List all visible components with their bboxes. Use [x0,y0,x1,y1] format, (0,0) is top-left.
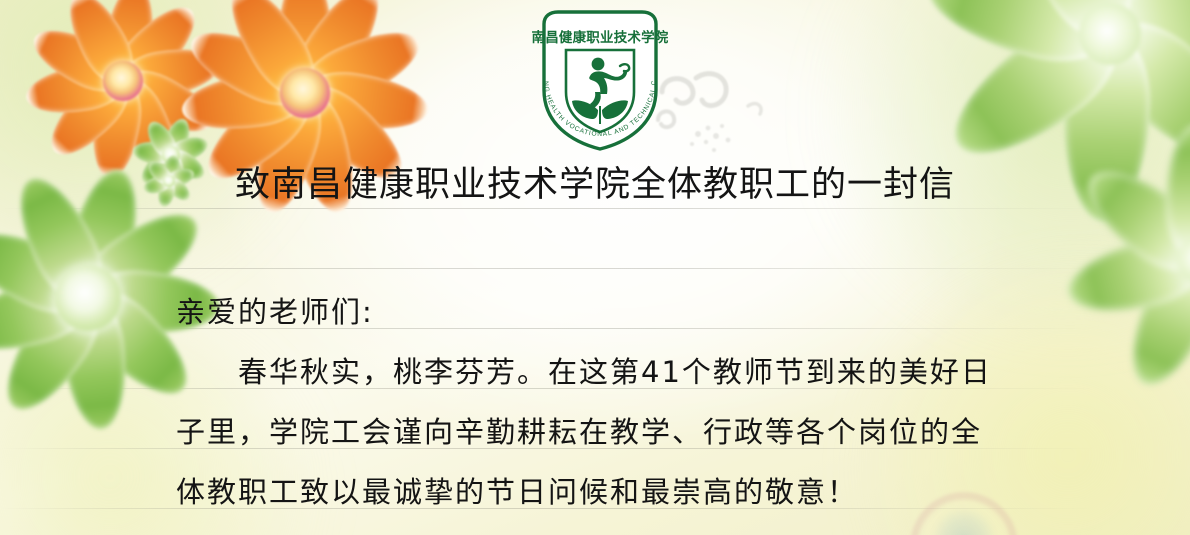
flower-petal [0,281,114,425]
flower-core [1079,3,1141,65]
flower-core [280,68,330,118]
flower-petal [1171,245,1190,396]
flower-petal [113,60,221,144]
college-emblem-logo: 南昌健康职业技术学院 NANCHANG HEALTH VOCATIONAL AN… [528,6,672,152]
paragraph-line-2: 子里，学院工会谨向辛勤耕耘在教学、行政等各个岗位的全 [176,402,1056,462]
flower-petal [282,0,394,108]
flower-petal [1102,0,1190,76]
background-bloom-top-left [0,0,340,300]
pale-green-flower-top-right [900,0,1190,244]
flower-petal [1060,228,1190,326]
letter-card: 南昌健康职业技术学院 NANCHANG HEALTH VOCATIONAL AN… [0,0,1190,535]
flower-petal [917,0,1121,76]
flower-petal [25,17,133,101]
flower-petal [178,66,308,137]
flower-petal [22,58,126,120]
letter-body: 亲爱的老师们: 春华秋实，桃李芬芳。在这第41个教师节到来的美好日 子里，学院工… [176,282,1056,522]
flower-petal [933,0,1135,180]
flower-petal [161,116,195,159]
flower-petal [119,41,223,103]
flower-petal [215,0,327,108]
flower-petal [57,0,144,92]
flower-petal [0,268,97,364]
flower-core [1177,237,1190,283]
ruled-line [0,268,1190,269]
flower-petal [38,65,139,167]
flower-petal [57,295,132,433]
flower-petal [181,17,316,118]
paragraph-line-1: 春华秋实，桃李芬芳。在这第41个教师节到来的美好日 [176,342,1056,402]
svg-text:南昌健康职业技术学院: 南昌健康职业技术学院 [532,29,669,46]
flower-core [55,265,121,331]
flower-petal [996,0,1150,51]
flower-petal [142,117,181,161]
flower-petal [294,17,429,118]
flower-petal [301,66,431,137]
flower-core [103,61,143,101]
page-title: 致南昌健康职业技术学院全体教职工的一封信 [0,156,1190,207]
flower-petal [278,0,332,93]
salutation: 亲爱的老师们: [176,282,1056,342]
flower-petal [100,0,159,84]
flower-petal [106,0,207,97]
flower-petal [1072,0,1190,54]
pale-green-flower-right-edge [1050,110,1190,410]
flower-petal [1114,246,1190,397]
flower-petal [0,216,101,326]
ruled-line [0,208,1190,209]
